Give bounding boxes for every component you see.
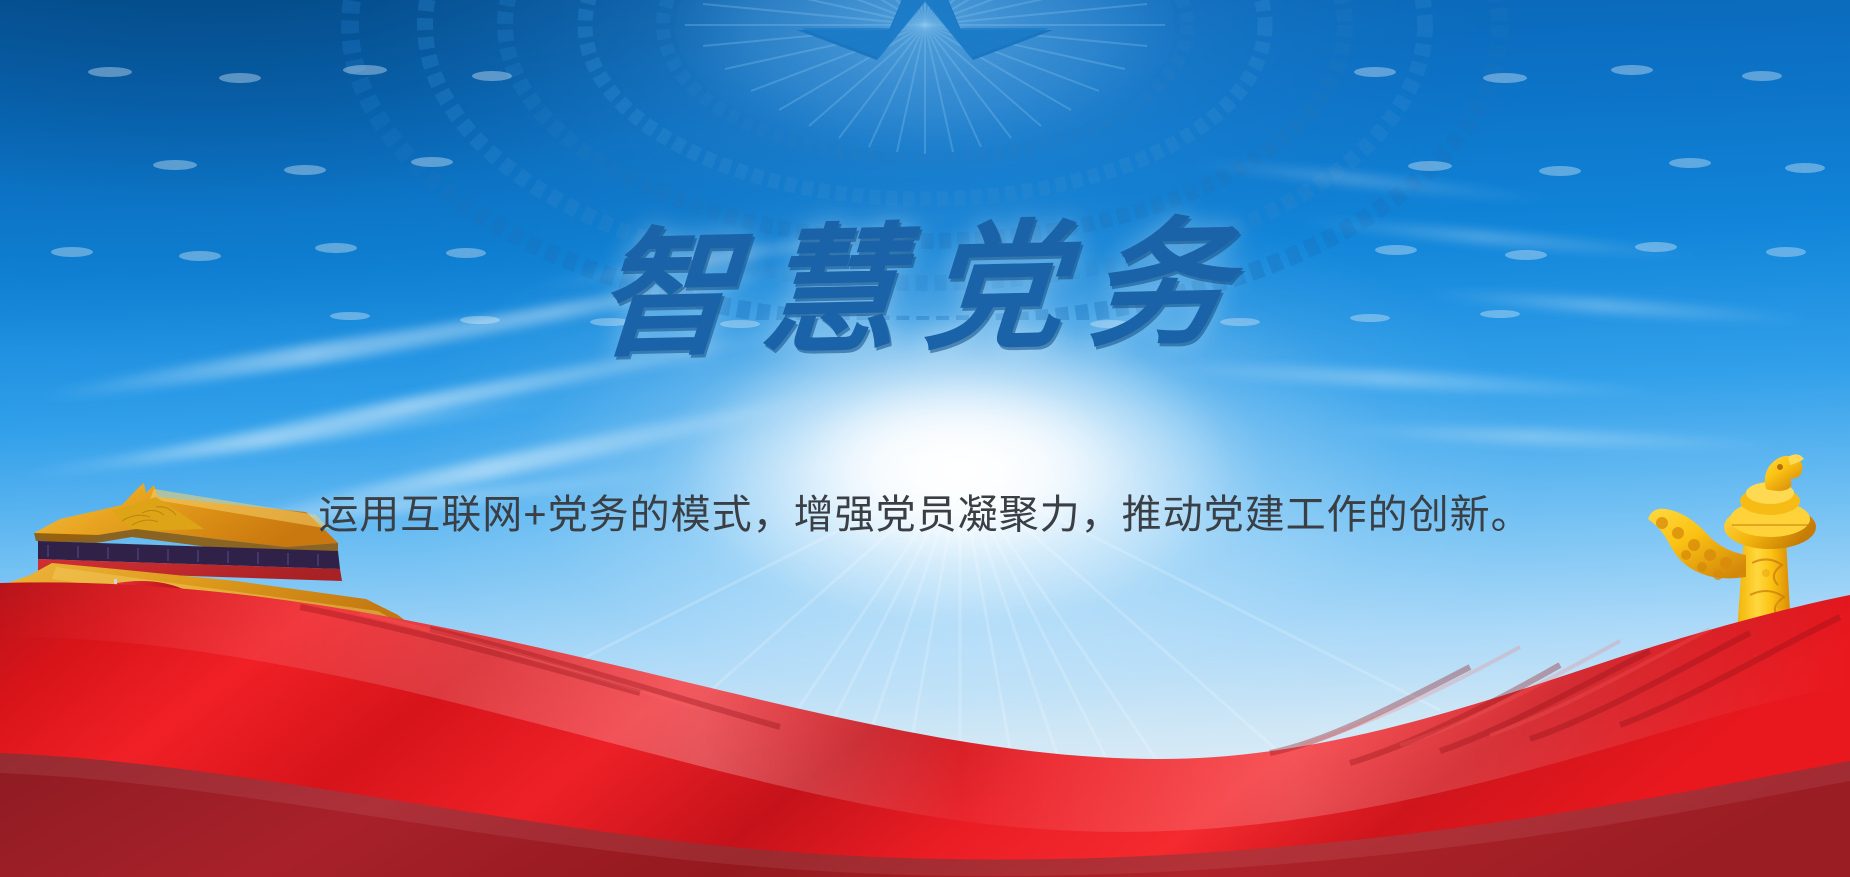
hero-banner: 智慧党务 运用互联网+党务的模式，增强党员凝聚力，推动党建工作的创新。 bbox=[0, 0, 1850, 877]
page-subtitle: 运用互联网+党务的模式，增强党员凝聚力，推动党建工作的创新。 bbox=[0, 490, 1850, 540]
sky-background bbox=[0, 0, 1850, 877]
